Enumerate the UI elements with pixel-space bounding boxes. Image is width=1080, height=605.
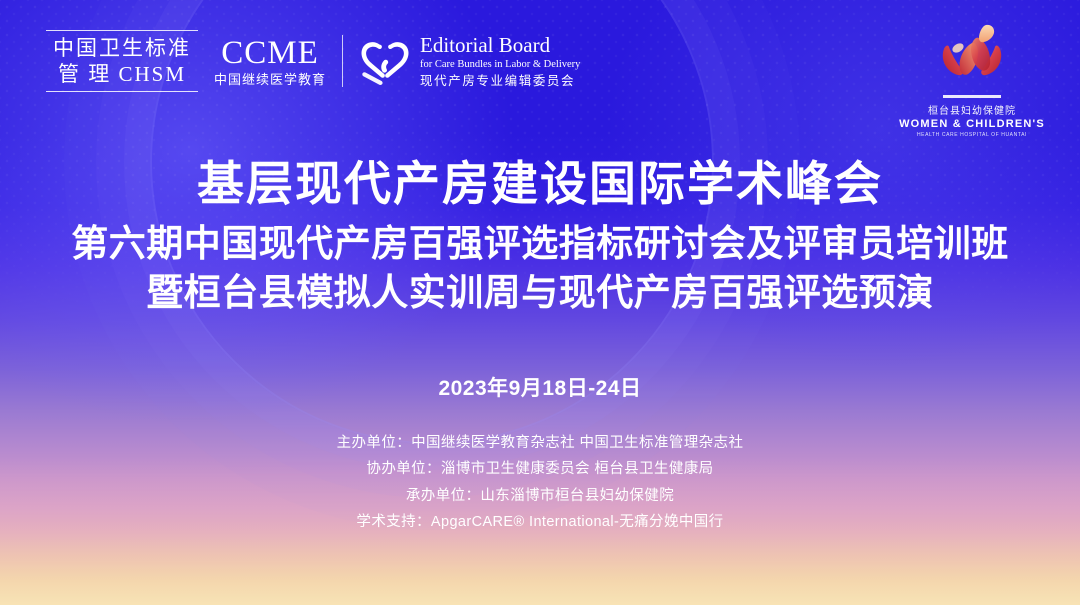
organizer-row: 协办单位：淄博市卫生健康委员会 桓台县卫生健康局 <box>0 456 1080 482</box>
organizer-row: 主办单位：中国继续医学教育杂志社 中国卫生标准管理杂志社 <box>0 430 1080 456</box>
title-block: 基层现代产房建设国际学术峰会 第六期中国现代产房百强评选指标研讨会及评审员培训班… <box>0 158 1080 314</box>
hospital-english-subtitle: HEALTH CARE HOSPITAL OF HUANTAI <box>898 132 1046 138</box>
editorial-board-title: Editorial Board <box>420 34 580 58</box>
chsm-line-2: 管 理 CHSM <box>53 62 191 88</box>
editorial-board-chinese: 现代产房专业编辑委员会 <box>420 74 580 88</box>
organizer-label: 主办单位： <box>337 435 412 451</box>
organizer-block: 主办单位：中国继续医学教育杂志社 中国卫生标准管理杂志社 协办单位：淄博市卫生健… <box>0 430 1080 536</box>
hospital-chinese-name: 桓台县妇幼保健院 <box>898 102 1046 117</box>
organizer-label: 协办单位： <box>366 461 441 477</box>
logo-bar: 中国卫生标准 管 理 CHSM CCME 中国继续医学教育 Editorial … <box>46 30 580 92</box>
organizer-value: 山东淄博市桓台县妇幼保健院 <box>480 488 674 504</box>
chsm-line-1: 中国卫生标准 <box>53 36 191 62</box>
organizer-value: 淄博市卫生健康委员会 桓台县卫生健康局 <box>441 461 714 477</box>
chsm-rule-bottom <box>46 91 198 92</box>
organizer-value: 中国继续医学教育杂志社 中国卫生标准管理杂志社 <box>411 435 743 451</box>
logo-hospital: 桓台县妇幼保健院 WOMEN & CHILDREN'S HEALTH CARE … <box>898 22 1046 138</box>
logo-divider <box>342 35 343 87</box>
logo-chsm: 中国卫生标准 管 理 CHSM <box>46 30 198 92</box>
organizer-label: 承办单位： <box>406 488 481 504</box>
logo-ccme: CCME 中国继续医学教育 <box>214 35 326 88</box>
subtitle-line-2: 暨桓台县模拟人实训周与现代产房百强评选预演 <box>0 272 1080 313</box>
logo-editorial-board: Editorial Board for Care Bundles in Labo… <box>359 34 580 87</box>
lotus-flower-icon <box>924 22 1020 88</box>
event-date: 2023年9月18日-24日 <box>0 372 1080 402</box>
hospital-logo-bar <box>943 95 1001 98</box>
organizer-label: 学术支持： <box>356 514 431 530</box>
organizer-row: 学术支持：ApgarCARE® International-无痛分娩中国行 <box>0 509 1080 535</box>
ccme-chinese-name: 中国继续医学教育 <box>214 73 326 87</box>
organizer-row: 承办单位：山东淄博市桓台县妇幼保健院 <box>0 483 1080 509</box>
subtitle-line-1: 第六期中国现代产房百强评选指标研讨会及评审员培训班 <box>0 223 1080 264</box>
heart-mother-child-icon <box>359 36 411 86</box>
hospital-english-name: WOMEN & CHILDREN'S <box>898 118 1046 130</box>
organizer-value: ApgarCARE® International-无痛分娩中国行 <box>431 514 724 530</box>
main-title: 基层现代产房建设国际学术峰会 <box>0 158 1080 211</box>
ccme-abbreviation: CCME <box>214 35 326 71</box>
conference-banner: 中国卫生标准 管 理 CHSM CCME 中国继续医学教育 Editorial … <box>0 0 1080 605</box>
editorial-board-subtitle: for Care Bundles in Labor & Delivery <box>420 59 580 71</box>
